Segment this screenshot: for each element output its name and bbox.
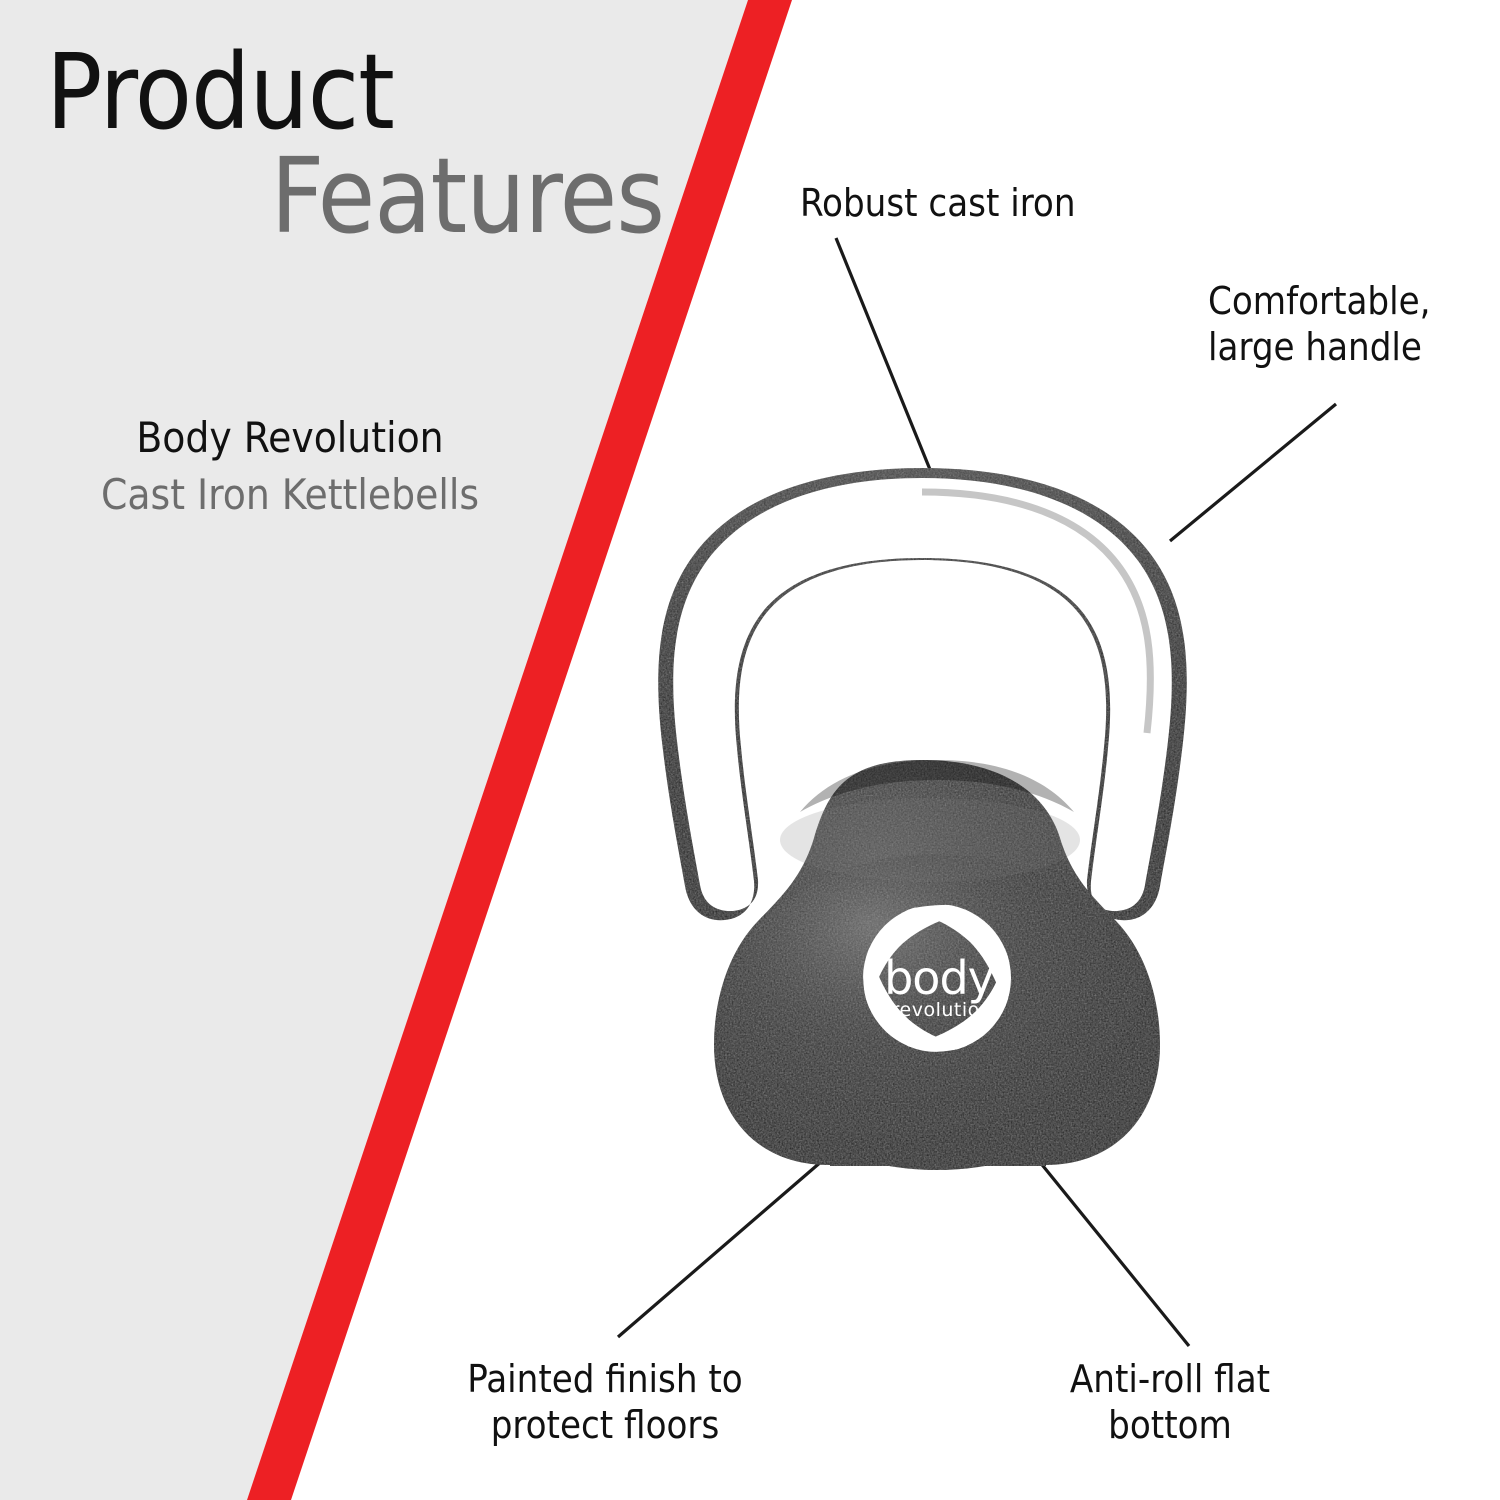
product-features-infographic: Product Features Body Revolution Cast Ir… (0, 0, 1500, 1500)
title-line-product: Product (46, 42, 686, 144)
title-line-features: Features (46, 144, 686, 248)
callout-label-robust-cast-iron: Robust cast iron (800, 180, 1220, 226)
brand-name: Body Revolution (0, 410, 580, 467)
callout-label-comfortable-handle: Comfortable, large handle (1208, 278, 1500, 371)
product-subtitle: Body Revolution Cast Iron Kettlebells (0, 410, 580, 523)
page-title: Product Features (46, 42, 686, 248)
product-name: Cast Iron Kettlebells (0, 467, 580, 524)
callout-label-painted-finish: Painted finish to protect floors (420, 1356, 790, 1449)
callout-label-anti-roll-bottom: Anti-roll flat bottom (1010, 1356, 1330, 1449)
